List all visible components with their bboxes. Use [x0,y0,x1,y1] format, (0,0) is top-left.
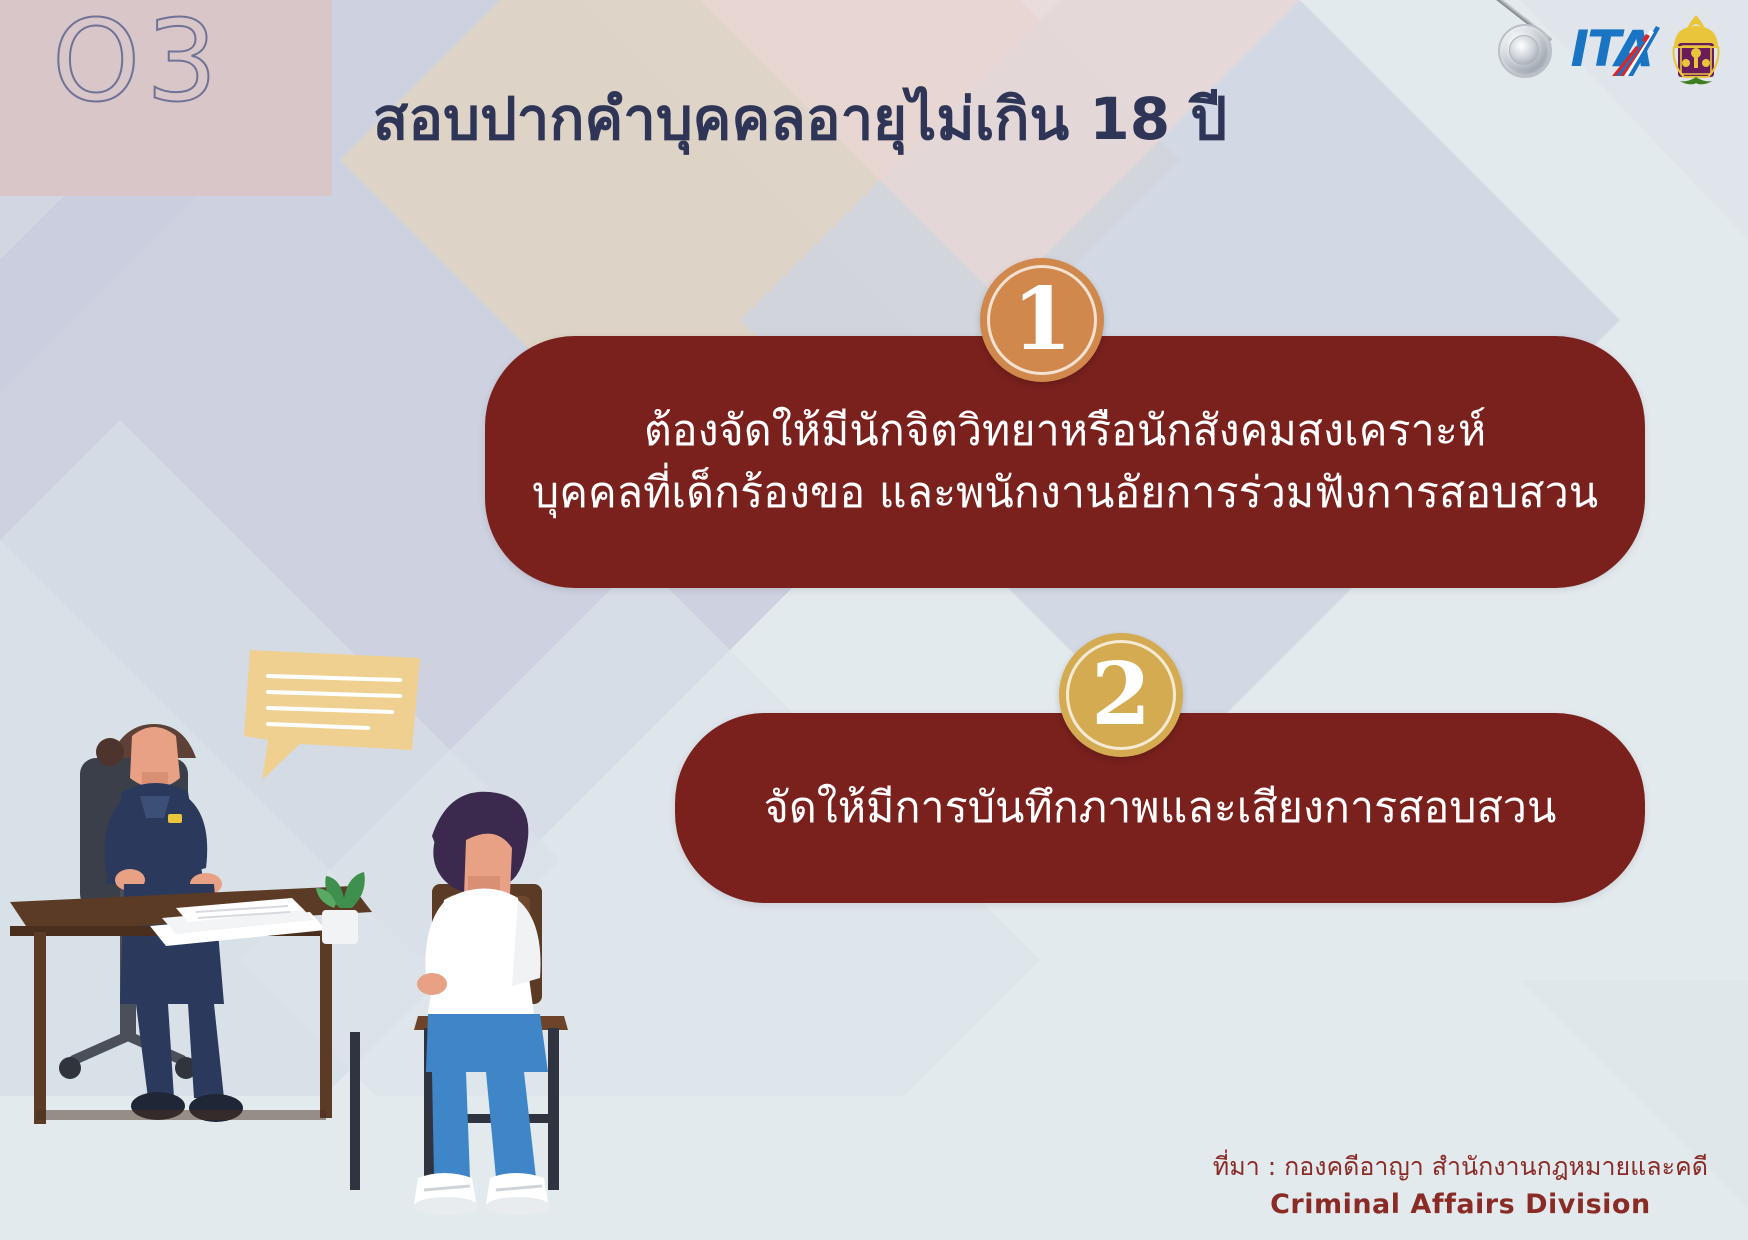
section-number: O3 [52,6,223,118]
thai-royal-garuda-emblem-icon [1668,13,1724,85]
infographic-slide: O3 สอบปากคำบุคคลอายุไม่เกิน 18 ปี ITA [0,0,1748,1240]
thai-silver-seal-icon [1486,12,1560,86]
content-box-1-text: ต้องจัดให้มีนักจิตวิทยาหรือนักสังคมสงเคร… [478,400,1652,525]
step-badge-2-number: 2 [1091,652,1151,738]
speech-bubble-icon [244,650,420,780]
ita-logo: ITA [1570,14,1658,84]
step-badge-2: 2 [1059,633,1183,757]
content-box-2-text: จัดให้มีการบันทึกภาพและเสียงการสอบสวน [710,777,1611,839]
logo-group: ITA [1486,10,1724,88]
content-box-2-line-1: จัดให้มีการบันทึกภาพและเสียงการสอบสวน [764,777,1557,839]
officer-interviewing-youth-at-desk-illustration [0,640,640,1240]
source-footer-english: Criminal Affairs Division [1213,1185,1708,1224]
source-footer-thai: ที่มา : กองคดีอาญา สำนักงานกฎหมายและคดี [1213,1149,1708,1185]
content-box-1-line-1: ต้องจัดให้มีนักจิตวิทยาหรือนักสังคมสงเคร… [532,400,1598,462]
content-box-1-line-2: บุคคลที่เด็กร้องขอ และพนักงานอัยการร่วมฟ… [532,462,1598,524]
source-footer: ที่มา : กองคดีอาญา สำนักงานกฎหมายและคดี … [1213,1149,1708,1224]
page-title: สอบปากคำบุคคลอายุไม่เกิน 18 ปี [300,86,1300,153]
step-badge-1-number: 1 [1012,277,1072,363]
step-badge-1: 1 [980,258,1104,382]
ita-stripes-icon [1606,24,1662,80]
